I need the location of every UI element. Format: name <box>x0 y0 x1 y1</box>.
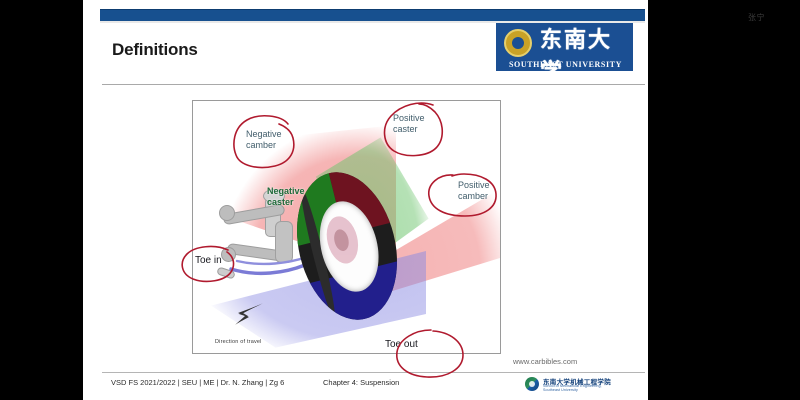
label-toe-in: Toe in <box>195 255 222 266</box>
wheel-alignment-figure: Direction of travel <box>192 100 501 354</box>
label-toe-out: Toe out <box>385 339 418 350</box>
footer-center-text: Chapter 4: Suspension <box>323 378 399 387</box>
brake-hub <box>322 213 363 267</box>
label-negative-caster: Negative caster <box>267 186 305 208</box>
presentation-slide: Definitions 东南大学 SOUTHEAST UNIVERSITY <box>83 0 648 400</box>
department-emblem-icon <box>525 377 539 391</box>
label-negative-camber: Negative camber <box>246 129 282 151</box>
footer-left-text: VSD FS 2021/2022 | SEU | ME | Dr. N. Zha… <box>111 378 284 387</box>
direction-of-travel-arrow-icon <box>231 301 265 327</box>
department-name-en: School of Mechanical Engineering, Southe… <box>543 384 602 393</box>
university-logo: 东南大学 SOUTHEAST UNIVERSITY <box>496 23 633 71</box>
label-positive-camber: Positive camber <box>458 180 490 202</box>
department-logo: 东南大学机械工程学院 School of Mechanical Engineer… <box>525 376 637 393</box>
university-name-cn: 东南大学 <box>540 25 633 89</box>
direction-of-travel-caption: Direction of travel <box>215 339 262 345</box>
screenshot-viewport: 张宁 Definitions 东南大学 SOUTHEAST UNIVERSITY <box>0 0 800 400</box>
shield-crest-icon <box>504 29 532 57</box>
university-name-en: SOUTHEAST UNIVERSITY <box>502 60 629 69</box>
page-title: Definitions <box>112 40 198 60</box>
screen-watermark: 张宁 <box>748 13 765 23</box>
label-positive-caster: Positive caster <box>393 113 425 135</box>
figure-credit: www.carbibles.com <box>513 357 577 366</box>
footer-divider <box>102 372 645 373</box>
